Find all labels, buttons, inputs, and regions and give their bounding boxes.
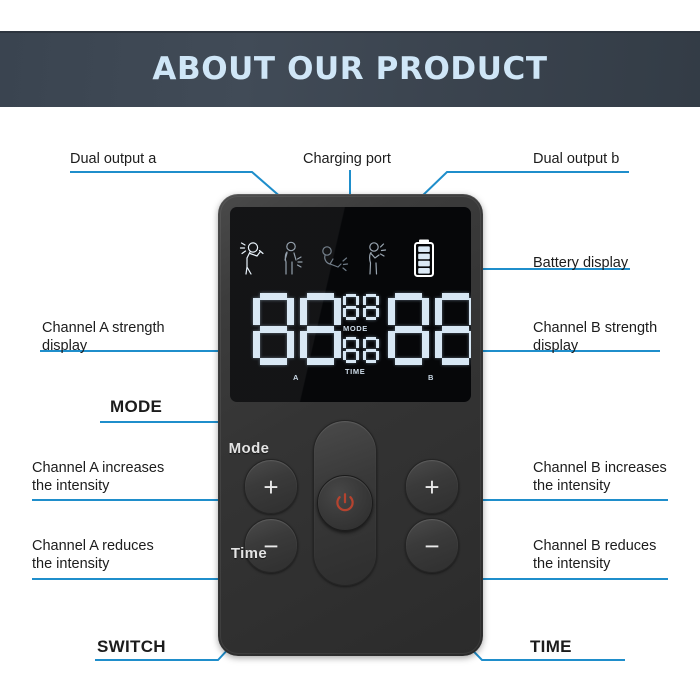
callout-channel-b-reduce: Channel B reduces the intensity: [533, 538, 656, 573]
callout-channel-a-increase: Channel A increases the intensity: [32, 460, 164, 495]
plus-icon: +: [263, 474, 278, 500]
page-title: ABOUT OUR PRODUCT: [152, 51, 547, 87]
header-top-strip: [0, 31, 700, 33]
callout-switch: SWITCH: [97, 638, 166, 656]
callout-dual-output-b: Dual output b: [533, 151, 619, 169]
lcd-screen: A: [230, 207, 471, 402]
channel-b-plus-button[interactable]: +: [405, 459, 459, 514]
power-icon: [333, 491, 357, 515]
callout-mode: MODE: [110, 398, 162, 416]
minus-icon: −: [424, 533, 439, 559]
callout-battery-display: Battery display: [533, 255, 628, 273]
callout-channel-b-increase: Channel B increases the intensity: [533, 460, 667, 495]
callout-charging-port: Charging port: [303, 151, 391, 169]
tens-device: A: [218, 194, 483, 656]
time-button[interactable]: Time: [218, 545, 280, 562]
plus-icon: +: [424, 474, 439, 500]
channel-b-minus-button[interactable]: −: [405, 518, 459, 573]
mode-button[interactable]: Mode: [218, 440, 280, 457]
callout-dual-output-a: Dual output a: [70, 151, 156, 169]
channel-a-plus-button[interactable]: +: [244, 459, 298, 514]
screen-gloss: [230, 207, 411, 402]
channel-b-digit-2: [435, 293, 471, 365]
channel-b-label: B: [428, 373, 434, 382]
power-button[interactable]: [317, 475, 373, 531]
product-infographic: ABOUT OUR PRODUCT: [0, 0, 700, 700]
callout-channel-b-strength: Channel B strength display: [533, 320, 657, 355]
callout-channel-a-strength: Channel A strength display: [42, 320, 165, 355]
callout-channel-a-reduce: Channel A reduces the intensity: [32, 538, 154, 573]
page-header: ABOUT OUR PRODUCT: [0, 31, 700, 107]
callout-time: TIME: [530, 638, 572, 656]
